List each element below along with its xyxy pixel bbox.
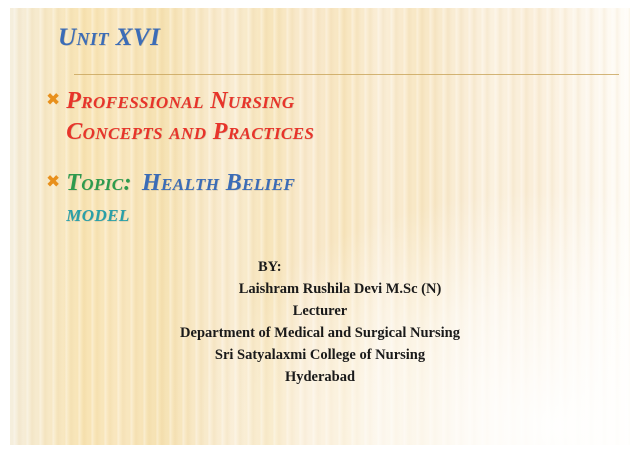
slide-content: Unit XVI ✖ Professional Nursing Concepts…	[10, 8, 630, 445]
bullet-line-2: Concepts and Practices	[66, 119, 314, 145]
bullet-line-1: Professional Nursing	[66, 88, 294, 114]
topic-label: Topic:	[66, 170, 132, 196]
bullet-item-professional-nursing: ✖ Professional Nursing Concepts and Prac…	[46, 86, 606, 147]
presentation-slide: Unit XVI ✖ Professional Nursing Concepts…	[0, 0, 640, 453]
topic-value-line-2: model	[66, 201, 129, 227]
presenter-department: Department of Medical and Surgical Nursi…	[180, 325, 460, 341]
bullet-text-professional-nursing: Professional Nursing Concepts and Practi…	[66, 86, 314, 147]
bullet-item-topic: ✖ Topic:Health Belief model	[46, 168, 606, 229]
by-label: BY:	[10, 256, 630, 278]
byline-block: BY: Laishram Rushila Devi M.Sc (N) Lectu…	[10, 256, 630, 388]
presenter-city: Hyderabad	[285, 369, 355, 385]
slide-background: Unit XVI ✖ Professional Nursing Concepts…	[10, 8, 630, 445]
topic-value-line-1: Health Belief	[142, 170, 295, 196]
cross-bullet-icon: ✖	[46, 86, 60, 109]
topic-text-group: Topic:Health Belief model	[66, 168, 295, 229]
cross-bullet-icon: ✖	[46, 168, 60, 191]
presenter-name: Laishram Rushila Devi M.Sc (N)	[10, 278, 630, 300]
presenter-institution: Sri Satyalaxmi College of Nursing	[215, 347, 425, 363]
presenter-designation: Lecturer	[293, 303, 347, 319]
slide-title: Unit XVI	[58, 24, 160, 52]
